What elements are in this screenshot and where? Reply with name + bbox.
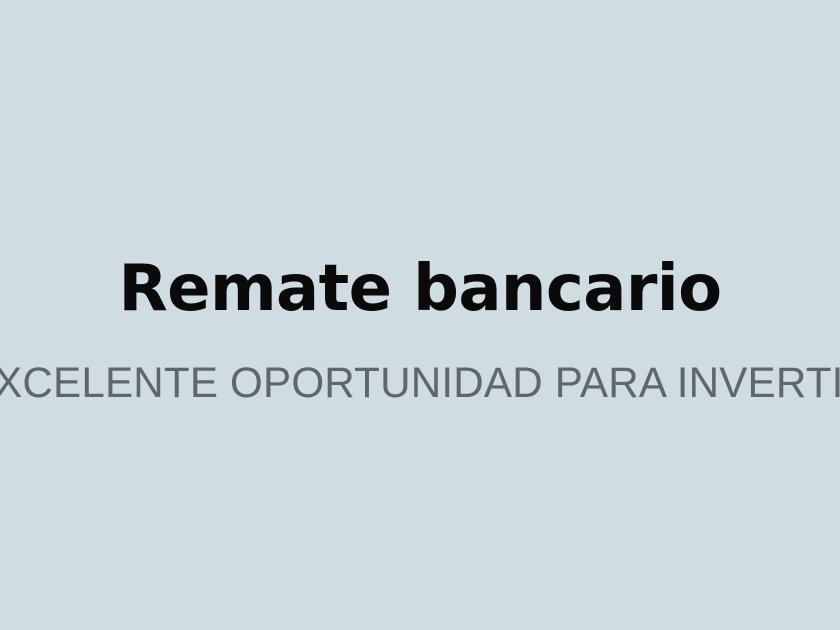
banner-headline: Remate bancario <box>0 249 840 329</box>
promo-banner: Remate bancario EXCELENTE OPORTUNIDAD PA… <box>0 0 840 630</box>
banner-subheadline-row: EXCELENTE OPORTUNIDAD PARA INVERTIR <box>0 355 840 411</box>
banner-subheadline: EXCELENTE OPORTUNIDAD PARA INVERTIR <box>0 355 840 411</box>
banner-text-block: Remate bancario EXCELENTE OPORTUNIDAD PA… <box>0 0 840 630</box>
